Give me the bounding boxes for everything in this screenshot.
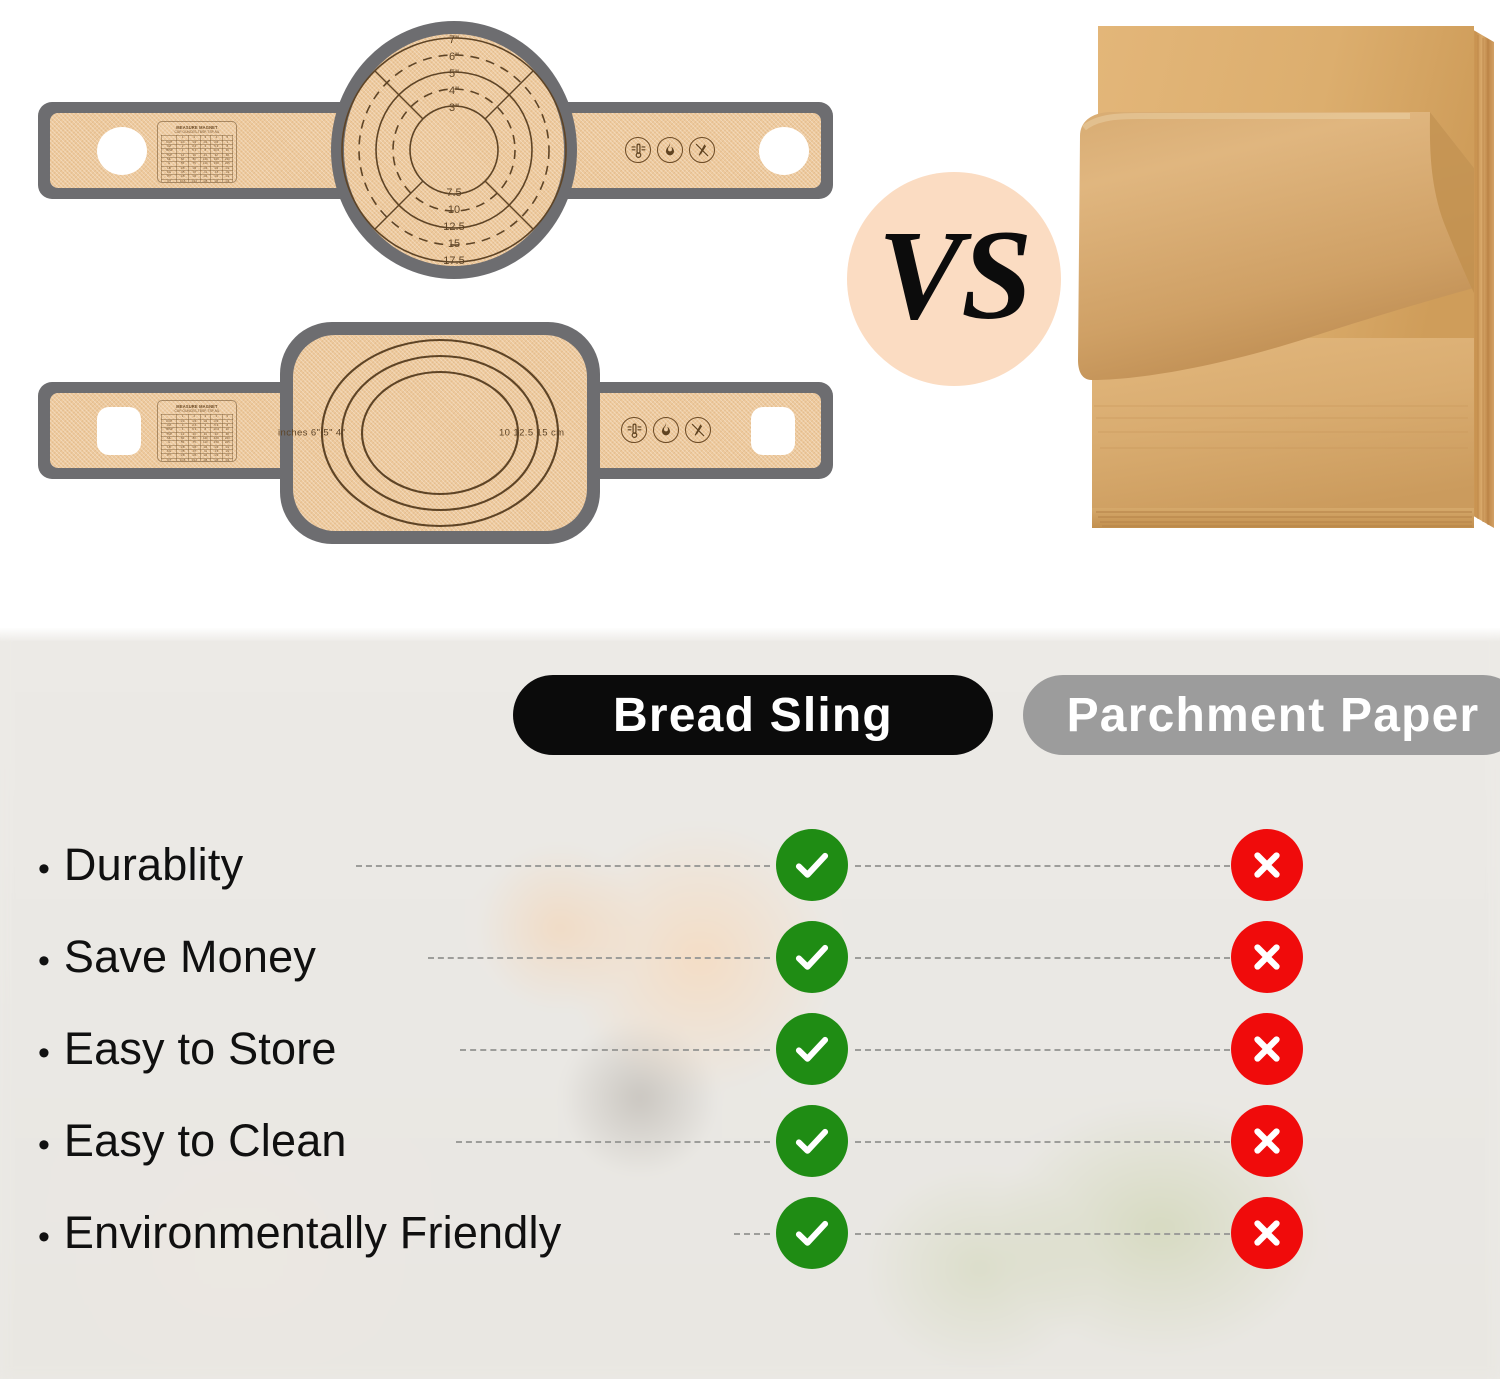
cross-icon xyxy=(1231,829,1303,901)
feature-label: •Durablity xyxy=(38,842,243,887)
feature-label-text: Save Money xyxy=(64,934,316,979)
vs-label: VS xyxy=(878,211,1031,339)
no-knife-icon xyxy=(689,137,715,163)
guide-label-bottom-3: 15 xyxy=(448,238,460,250)
conversion-table-cell: 1/16 xyxy=(177,458,189,462)
guide-label-bottom-2: 12.5 xyxy=(443,221,464,233)
conversion-table-cell: 1/6 xyxy=(210,458,222,462)
conversion-table-cell: 1/16 xyxy=(177,179,189,183)
feature-label: •Save Money xyxy=(38,934,316,979)
vs-badge: VS xyxy=(847,172,1061,386)
check-icon xyxy=(776,1013,848,1085)
table-row: •Environmentally Friendly xyxy=(0,1186,1500,1278)
feature-label-text: Environmentally Friendly xyxy=(64,1210,562,1255)
product-photo-panel: 7" 6" 5" 4" 3" 7.5 10 12.5 15 17.5 MEASU… xyxy=(0,0,1500,628)
conversion-table-row: QT1/161/121/81/61/4 xyxy=(162,458,233,462)
comparison-table-panel: Bread Sling Parchment Paper •Durablity•S… xyxy=(0,628,1500,1379)
conversion-table-cell: QT xyxy=(162,179,177,183)
safety-icon-group xyxy=(625,137,715,163)
table-row: •Durablity xyxy=(0,818,1500,910)
thermometer-icon xyxy=(625,137,651,163)
feature-label: •Easy to Store xyxy=(38,1026,337,1071)
leader-line-left xyxy=(456,1141,770,1143)
cross-icon xyxy=(1231,1197,1303,1269)
guide-label-top-2: 5" xyxy=(449,68,459,80)
leader-line-right xyxy=(855,1141,1230,1143)
measurement-circle-guides xyxy=(35,15,835,285)
conversion-table-cell: 1/4 xyxy=(222,458,232,462)
cross-icon xyxy=(1231,1105,1303,1177)
check-icon xyxy=(776,1197,848,1269)
panel-top-fade xyxy=(0,628,1500,642)
guide-label-bottom-1: 10 xyxy=(448,204,460,216)
cross-icon xyxy=(1231,921,1303,993)
feature-label-text: Easy to Store xyxy=(64,1026,337,1071)
feature-label: •Environmentally Friendly xyxy=(38,1210,561,1255)
column-header-bread-sling[interactable]: Bread Sling xyxy=(513,675,993,755)
conversion-table-cell: 1/12 xyxy=(188,179,200,183)
leader-line-left xyxy=(460,1049,770,1051)
no-knife-icon-2 xyxy=(685,417,711,443)
comparison-header-row: Bread Sling Parchment Paper xyxy=(0,675,1500,755)
feature-label-text: Durablity xyxy=(64,842,243,887)
bullet-icon: • xyxy=(38,1128,50,1162)
flame-icon-2 xyxy=(653,417,679,443)
conversion-table-cell: QT xyxy=(162,458,177,462)
measurement-oval-guides xyxy=(35,307,835,557)
feature-row-list: •Durablity•Save Money•Easy to Store•Easy… xyxy=(0,818,1500,1278)
feature-label-text: Easy to Clean xyxy=(64,1118,347,1163)
conversion-table-cell: 1/12 xyxy=(188,458,200,462)
guide-label-bottom-0: 7.5 xyxy=(446,187,461,199)
conversion-table-2: 12345CUP1/41/31/22/31OZ22.645.38TBSP45.3… xyxy=(161,414,233,462)
paper-bottom-edges xyxy=(1092,508,1474,528)
guide-label-top-1: 6" xyxy=(449,51,459,63)
cm-scale-label: 10 12.5 15 cm xyxy=(499,428,564,439)
leader-line-right xyxy=(855,865,1230,867)
comparison-infographic: 7" 6" 5" 4" 3" 7.5 10 12.5 15 17.5 MEASU… xyxy=(0,0,1500,1379)
measure-magnet-table-2: MEASURE MAGNET CUP-OUNCES-TBSP-TSP-ML 12… xyxy=(157,400,237,462)
conversion-table-row: QT1/161/121/81/61/4 xyxy=(162,179,233,183)
parchment-paper-illustration xyxy=(1070,8,1500,558)
table-row: •Save Money xyxy=(0,910,1500,1002)
guide-label-top-3: 4" xyxy=(449,85,459,97)
flame-icon xyxy=(657,137,683,163)
conversion-table-cell: 1/8 xyxy=(200,458,210,462)
feature-label: •Easy to Clean xyxy=(38,1118,347,1163)
guide-label-top-0: 7" xyxy=(449,34,459,46)
bullet-icon: • xyxy=(38,1220,50,1254)
thermometer-icon-2 xyxy=(621,417,647,443)
column-header-parchment-paper[interactable]: Parchment Paper xyxy=(1023,675,1500,755)
inches-scale-label: inches 6" 5" 4" xyxy=(278,428,345,439)
measure-magnet-table: MEASURE MAGNET CUP-OUNCES-TBSP-TSP-ML 12… xyxy=(157,121,237,183)
safety-icon-group-2 xyxy=(621,417,711,443)
column-header-bread-sling-label: Bread Sling xyxy=(613,688,893,743)
bullet-icon: • xyxy=(38,944,50,978)
bullet-icon: • xyxy=(38,852,50,886)
leader-line-left xyxy=(734,1233,770,1235)
measure-magnet-subtitle-2: CUP-OUNCES-TBSP-TSP-ML xyxy=(161,409,233,413)
conversion-table-cell: 1/8 xyxy=(200,179,210,183)
leader-line-right xyxy=(855,1049,1230,1051)
parchment-paper-stack xyxy=(1070,8,1500,558)
check-icon xyxy=(776,829,848,901)
guide-label-bottom-4: 17.5 xyxy=(443,255,464,267)
leader-line-left xyxy=(356,865,770,867)
leader-line-right xyxy=(855,1233,1230,1235)
conversion-table-cell: 1/6 xyxy=(210,179,222,183)
bread-sling-oval-mat: inches 6" 5" 4" 10 12.5 15 cm MEASURE MA… xyxy=(35,307,835,557)
conversion-table-cell: 1/4 xyxy=(222,179,232,183)
guide-label-top-4: 3" xyxy=(449,102,459,114)
column-header-parchment-paper-label: Parchment Paper xyxy=(1067,688,1480,743)
leader-line-left xyxy=(428,957,770,959)
cross-icon xyxy=(1231,1013,1303,1085)
check-icon xyxy=(776,1105,848,1177)
conversion-table: 12345CUP1/41/31/22/31OZ22.645.38TBSP45.3… xyxy=(161,135,233,183)
leader-line-right xyxy=(855,957,1230,959)
table-row: •Easy to Store xyxy=(0,1002,1500,1094)
check-icon xyxy=(776,921,848,993)
measure-magnet-subtitle: CUP-OUNCES-TBSP-TSP-ML xyxy=(161,130,233,134)
bullet-icon: • xyxy=(38,1036,50,1070)
table-row: •Easy to Clean xyxy=(0,1094,1500,1186)
bread-sling-round-mat: 7" 6" 5" 4" 3" 7.5 10 12.5 15 17.5 MEASU… xyxy=(35,15,835,285)
